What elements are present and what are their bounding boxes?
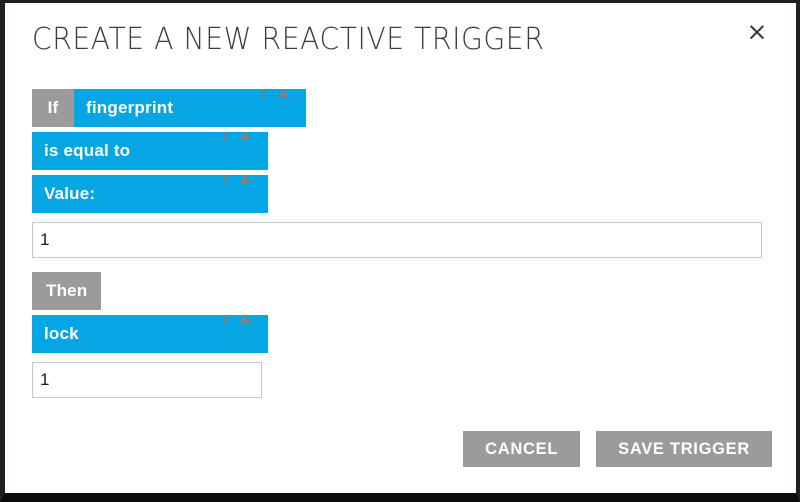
- condition-subject-value: fingerprint: [86, 98, 173, 117]
- if-tag: If: [32, 89, 74, 127]
- dialog-footer: CANCEL SAVE TRIGGER: [463, 431, 772, 467]
- action-command-value: lock: [44, 324, 79, 343]
- create-trigger-dialog: CREATE A NEW REACTIVE TRIGGER × If finge…: [5, 3, 796, 493]
- chevron-up-icon: [239, 315, 251, 323]
- chevron-up-icon: [277, 89, 289, 97]
- chevron-up-icon: [239, 175, 251, 183]
- save-trigger-button[interactable]: SAVE TRIGGER: [596, 431, 772, 467]
- close-icon[interactable]: ×: [744, 19, 770, 45]
- condition-subject-row: If fingerprint: [32, 89, 796, 127]
- cancel-button[interactable]: CANCEL: [463, 431, 580, 467]
- action-value-input[interactable]: [32, 362, 262, 398]
- select-slash-marker-icon: [260, 89, 265, 98]
- condition-comparator-value: is equal to: [44, 141, 130, 160]
- trigger-form: If fingerprint is equal to Value:: [32, 89, 796, 403]
- action-command-row: lock: [32, 315, 796, 353]
- then-tag: Then: [32, 272, 101, 310]
- screenshot-frame: CREATE A NEW REACTIVE TRIGGER × If finge…: [0, 0, 800, 502]
- condition-comparator-row: is equal to: [32, 132, 796, 170]
- condition-subject-select[interactable]: fingerprint: [74, 89, 306, 127]
- action-tag-row: Then: [32, 272, 796, 310]
- chevron-up-icon: [239, 132, 251, 140]
- condition-value-label-text: Value:: [44, 184, 95, 203]
- select-slash-marker-icon: [222, 315, 227, 324]
- select-slash-marker-icon: [222, 175, 227, 184]
- select-slash-marker-icon: [222, 132, 227, 141]
- condition-value-label-select[interactable]: Value:: [32, 175, 268, 213]
- condition-value-input-row: [32, 222, 796, 258]
- condition-value-input[interactable]: [32, 222, 762, 258]
- action-value-input-row: [32, 362, 796, 398]
- condition-value-label-row: Value:: [32, 175, 796, 213]
- condition-comparator-select[interactable]: is equal to: [32, 132, 268, 170]
- action-command-select[interactable]: lock: [32, 315, 268, 353]
- page-title: CREATE A NEW REACTIVE TRIGGER: [32, 22, 544, 57]
